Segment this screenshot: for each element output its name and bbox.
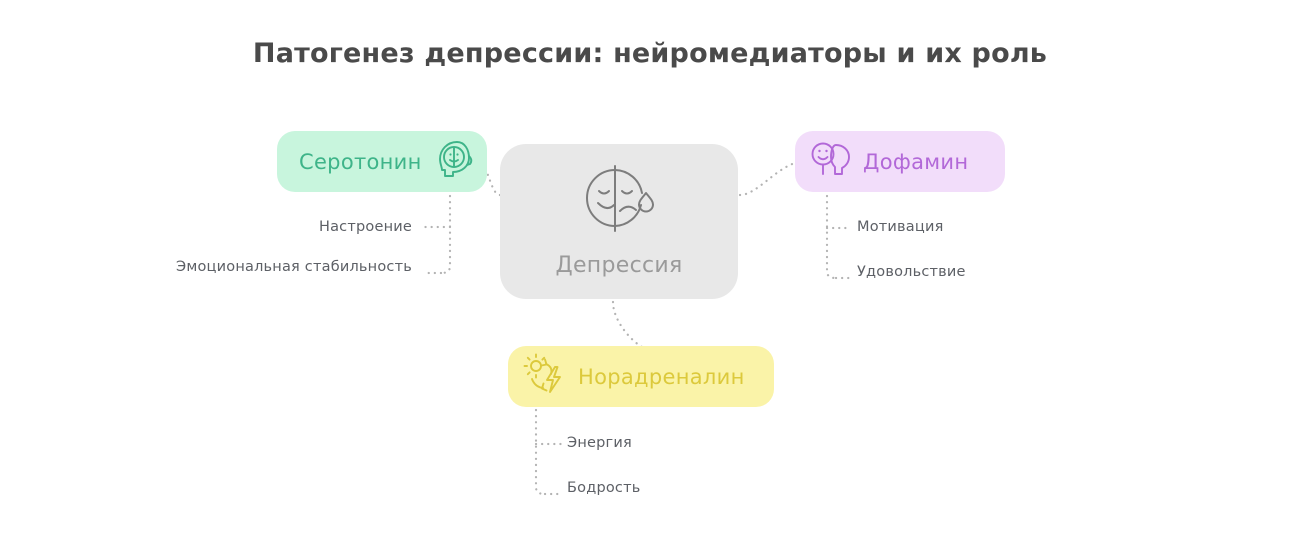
sub-label-serotonin-emotional-stability: Эмоциональная стабильность bbox=[110, 259, 412, 275]
connector-serotonin-trunk bbox=[441, 196, 450, 273]
node-central-depression[interactable]: Депрессия bbox=[500, 144, 738, 299]
sub-label-dopamine-pleasure: Удовольствие bbox=[857, 264, 966, 280]
sub-label-dopamine-motivation: Мотивация bbox=[857, 219, 944, 235]
sub-label-noradrenaline-energy: Энергия bbox=[567, 435, 632, 451]
connector-noradrenaline-trunk bbox=[536, 410, 545, 494]
sub-label-serotonin-mood: Настроение bbox=[160, 219, 412, 235]
node-dopamine-label: Дофамин bbox=[863, 150, 968, 174]
head-face-icon bbox=[436, 139, 476, 185]
smiley-head-icon bbox=[809, 139, 853, 185]
node-serotonin-label: Серотонин bbox=[299, 150, 422, 174]
connector-central-noradrenaline bbox=[613, 302, 642, 347]
node-central-label: Депрессия bbox=[555, 253, 682, 278]
connector-dopamine-trunk bbox=[827, 196, 836, 278]
node-serotonin[interactable]: Серотонин bbox=[277, 131, 487, 192]
node-dopamine[interactable]: Дофамин bbox=[795, 131, 1005, 192]
sub-label-noradrenaline-vigor: Бодрость bbox=[567, 480, 640, 496]
sun-lightning-icon bbox=[522, 353, 568, 401]
page-title: Патогенез депрессии: нейромедиаторы и их… bbox=[0, 38, 1300, 69]
connector-central-dopamine bbox=[740, 163, 795, 195]
node-noradrenaline[interactable]: Норадреналин bbox=[508, 346, 774, 407]
node-noradrenaline-label: Норадреналин bbox=[578, 365, 745, 389]
split-face-icon bbox=[582, 165, 656, 239]
